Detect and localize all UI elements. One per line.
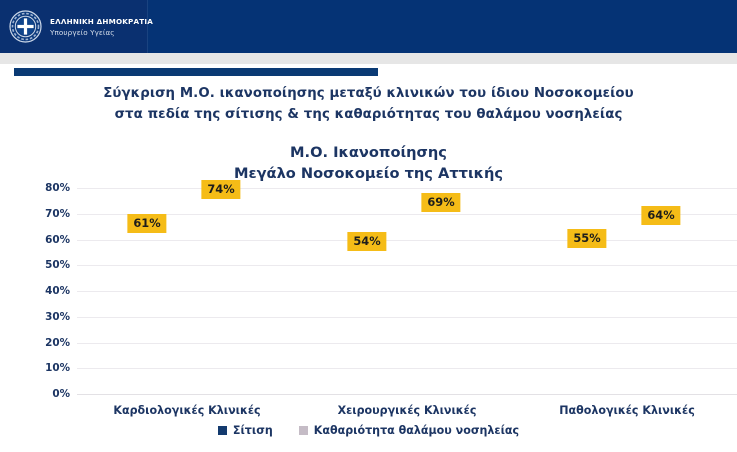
bar-group: 61%74% bbox=[77, 188, 297, 394]
brand-line-2: Υπουργείο Υγείας bbox=[50, 28, 153, 37]
x-axis-categories: Καρδιολογικές ΚλινικέςΧειρουργικές Κλινι… bbox=[77, 398, 737, 420]
bar-group: 55%64% bbox=[517, 188, 737, 394]
chart-title-main: Μ.Ο. Ικανοποίησης bbox=[0, 142, 737, 163]
bar-value-label: 64% bbox=[641, 206, 680, 225]
gridline bbox=[77, 394, 737, 395]
bar[interactable]: 61% bbox=[123, 237, 171, 394]
greek-republic-emblem-icon bbox=[9, 10, 42, 43]
y-axis: 80%70%60%50%40%30%20%10%0% bbox=[22, 188, 70, 394]
x-axis-category-label: Καρδιολογικές Κλινικές bbox=[77, 398, 297, 420]
chart-title: Μ.Ο. Ικανοποίησης Μεγάλο Νοσοκομείο της … bbox=[0, 142, 737, 184]
header-gray-band bbox=[0, 53, 737, 64]
y-axis-tick-label: 20% bbox=[45, 337, 70, 349]
bar-value-label: 61% bbox=[127, 214, 166, 233]
legend-swatch-icon bbox=[299, 426, 308, 435]
y-axis-tick-label: 40% bbox=[45, 285, 70, 297]
bar-value-label: 54% bbox=[347, 232, 386, 251]
bar-chart: 80%70%60%50%40%30%20%10%0% 61%74%54%69%5… bbox=[0, 188, 737, 452]
legend-label: Καθαριότητα θαλάμου νοσηλείας bbox=[314, 424, 519, 437]
page-title: Σύγκριση Μ.Ο. ικανοποίησης μεταξύ κλινικ… bbox=[0, 84, 737, 125]
y-axis-tick-label: 10% bbox=[45, 362, 70, 374]
bar-value-label: 69% bbox=[421, 193, 460, 212]
bar-group: 54%69% bbox=[297, 188, 517, 394]
bar[interactable]: 69% bbox=[417, 216, 465, 394]
y-axis-tick-label: 70% bbox=[45, 208, 70, 220]
page-title-line-1: Σύγκριση Μ.Ο. ικανοποίησης μεταξύ κλινικ… bbox=[0, 84, 737, 105]
plot-area: 61%74%54%69%55%64% bbox=[77, 188, 737, 394]
page-title-line-2: στα πεδία της σίτισης & της καθαριότητας… bbox=[0, 105, 737, 126]
page-header: ΕΛΛΗΝΙΚΗ ΔΗΜΟΚΡΑΤΙΑ Υπουργείο Υγείας bbox=[0, 0, 737, 53]
brand-line-1: ΕΛΛΗΝΙΚΗ ΔΗΜΟΚΡΑΤΙΑ bbox=[50, 17, 153, 26]
x-axis-category-label: Χειρουργικές Κλινικές bbox=[297, 398, 517, 420]
bar[interactable]: 54% bbox=[343, 255, 391, 394]
x-axis-category-label: Παθολογικές Κλινικές bbox=[517, 398, 737, 420]
bar[interactable]: 64% bbox=[637, 229, 685, 394]
bar[interactable]: 74% bbox=[197, 203, 245, 394]
legend-item[interactable]: Καθαριότητα θαλάμου νοσηλείας bbox=[299, 424, 519, 437]
bar[interactable]: 55% bbox=[563, 252, 611, 394]
y-axis-tick-label: 50% bbox=[45, 259, 70, 271]
y-axis-tick-label: 80% bbox=[45, 182, 70, 194]
bar-value-label: 74% bbox=[201, 180, 240, 199]
chart-legend: ΣίτισηΚαθαριότητα θαλάμου νοσηλείας bbox=[0, 424, 737, 437]
legend-label: Σίτιση bbox=[233, 424, 273, 437]
bar-value-label: 55% bbox=[567, 229, 606, 248]
title-accent-rule bbox=[14, 68, 378, 76]
y-axis-tick-label: 30% bbox=[45, 311, 70, 323]
chart-subtitle: Μεγάλο Νοσοκομείο της Αττικής bbox=[0, 163, 737, 184]
legend-swatch-icon bbox=[218, 426, 227, 435]
bar-groups: 61%74%54%69%55%64% bbox=[77, 188, 737, 394]
legend-item[interactable]: Σίτιση bbox=[218, 424, 273, 437]
y-axis-tick-label: 0% bbox=[52, 388, 70, 400]
y-axis-tick-label: 60% bbox=[45, 234, 70, 246]
header-brand-block: ΕΛΛΗΝΙΚΗ ΔΗΜΟΚΡΑΤΙΑ Υπουργείο Υγείας bbox=[0, 0, 148, 53]
brand-text: ΕΛΛΗΝΙΚΗ ΔΗΜΟΚΡΑΤΙΑ Υπουργείο Υγείας bbox=[50, 17, 153, 37]
